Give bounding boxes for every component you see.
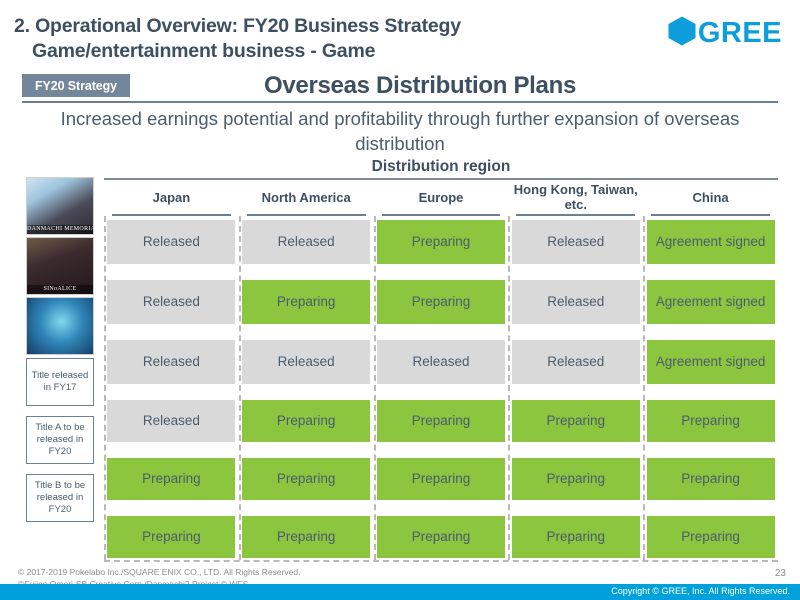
page-number: 23 xyxy=(775,568,786,579)
status-badge: Agreement signed xyxy=(647,280,775,324)
table-cell: Released xyxy=(508,216,643,268)
status-badge: Preparing xyxy=(242,458,370,500)
column-header: Europe xyxy=(374,180,509,216)
table-column-headers: JapanNorth AmericaEuropeHong Kong, Taiwa… xyxy=(104,180,778,216)
table-cell: Preparing xyxy=(643,396,778,446)
table-cell: Preparing xyxy=(374,512,509,562)
status-badge: Preparing xyxy=(377,516,505,558)
lead-paragraph: Increased earnings potential and profita… xyxy=(60,107,740,156)
table-cell: Released xyxy=(104,276,239,328)
status-badge: Preparing xyxy=(512,516,640,558)
row-label-box: Title A to be released in FY20 xyxy=(26,416,94,464)
thumbnail-caption: SINoALICE xyxy=(27,285,93,294)
row-label-box: Title B to be released in FY20 xyxy=(26,474,94,522)
table-cell: Released xyxy=(239,216,374,268)
table-cell: Preparing xyxy=(374,216,509,268)
table-cell: Preparing xyxy=(104,512,239,562)
strategy-tag: FY20 Strategy xyxy=(22,74,130,97)
table-cell: Preparing xyxy=(239,454,374,504)
table-cell: Preparing xyxy=(239,276,374,328)
status-badge: Released xyxy=(512,280,640,324)
status-badge: Released xyxy=(377,340,505,384)
table-cell: Released xyxy=(104,216,239,268)
section-title: Overseas Distribution Plans xyxy=(140,72,700,100)
table-cell: Agreement signed xyxy=(643,276,778,328)
table-row-labels: DANMACHI MEMORIA FREESESINoALICETitle re… xyxy=(26,180,100,526)
bottom-bar: Copyright © GREE, Inc. All Rights Reserv… xyxy=(0,584,800,600)
table-cell: Preparing xyxy=(104,454,239,504)
column-separator xyxy=(374,216,376,560)
table-cell: Released xyxy=(104,336,239,388)
table-row: ReleasedPreparingPreparingReleasedAgreem… xyxy=(104,276,778,328)
table-cell: Preparing xyxy=(643,454,778,504)
status-badge: Released xyxy=(242,340,370,384)
gree-logo: GREE xyxy=(668,16,782,51)
status-badge: Released xyxy=(512,220,640,264)
column-header: China xyxy=(643,180,778,216)
status-badge: Preparing xyxy=(512,400,640,442)
status-badge: Agreement signed xyxy=(647,220,775,264)
table-cell: Preparing xyxy=(239,396,374,446)
thumbnail-caption: DANMACHI MEMORIA FREESE xyxy=(27,225,93,234)
column-separator xyxy=(104,216,106,560)
column-header: Hong Kong, Taiwan, etc. xyxy=(508,180,643,216)
status-badge: Released xyxy=(512,340,640,384)
table-row: ReleasedReleasedReleasedReleasedAgreemen… xyxy=(104,336,778,388)
status-badge: Released xyxy=(107,220,235,264)
game-thumbnail: SINoALICE xyxy=(26,237,94,295)
table-cell: Preparing xyxy=(239,512,374,562)
column-header: Japan xyxy=(104,180,239,216)
column-separator xyxy=(643,216,645,560)
thumbnail-artwork xyxy=(27,298,93,354)
slide-root: 2. Operational Overview: FY20 Business S… xyxy=(0,0,800,600)
table-cell: Released xyxy=(374,336,509,388)
game-thumbnail: DANMACHI MEMORIA FREESE xyxy=(26,177,94,235)
status-badge: Preparing xyxy=(647,458,775,500)
hexagon-icon xyxy=(668,16,696,51)
status-badge: Preparing xyxy=(647,516,775,558)
table-cell: Preparing xyxy=(374,396,509,446)
table-grid: ReleasedReleasedPreparingReleasedAgreeme… xyxy=(104,216,778,562)
page-title-line1: 2. Operational Overview: FY20 Business S… xyxy=(14,15,461,37)
status-badge: Preparing xyxy=(377,280,505,324)
status-badge: Preparing xyxy=(512,458,640,500)
status-badge: Released xyxy=(107,280,235,324)
table-cell: Released xyxy=(239,336,374,388)
status-badge: Preparing xyxy=(107,516,235,558)
table-cell: Preparing xyxy=(508,396,643,446)
status-badge: Preparing xyxy=(242,280,370,324)
distribution-table: JapanNorth AmericaEuropeHong Kong, Taiwa… xyxy=(104,180,778,562)
page-title-line2: Game/entertainment business - Game xyxy=(14,39,634,64)
table-row: PreparingPreparingPreparingPreparingPrep… xyxy=(104,454,778,504)
copyright-line-1: © 2017-2019 Pokelabo Inc./SQUARE ENIX CO… xyxy=(18,566,300,578)
title-divider xyxy=(22,101,778,103)
table-cell: Released xyxy=(508,336,643,388)
status-badge: Preparing xyxy=(242,516,370,558)
status-badge: Preparing xyxy=(377,220,505,264)
table-cell: Preparing xyxy=(374,276,509,328)
column-header: North America xyxy=(239,180,374,216)
status-badge: Preparing xyxy=(377,400,505,442)
status-badge: Released xyxy=(242,220,370,264)
gree-wordmark: GREE xyxy=(698,19,782,48)
status-badge: Preparing xyxy=(647,400,775,442)
table-cell: Preparing xyxy=(508,454,643,504)
column-separator xyxy=(508,216,510,560)
table-cell: Released xyxy=(104,396,239,446)
table-cell: Agreement signed xyxy=(643,336,778,388)
table-row: ReleasedPreparingPreparingPreparingPrepa… xyxy=(104,396,778,446)
status-badge: Released xyxy=(107,400,235,442)
status-badge: Preparing xyxy=(107,458,235,500)
table-group-header: Distribution region xyxy=(104,158,778,176)
bottom-bar-text: Copyright © GREE, Inc. All Rights Reserv… xyxy=(611,586,790,596)
page-title: 2. Operational Overview: FY20 Business S… xyxy=(14,14,634,64)
table-cell: Preparing xyxy=(374,454,509,504)
game-thumbnail xyxy=(26,297,94,355)
column-separator xyxy=(239,216,241,560)
status-badge: Released xyxy=(107,340,235,384)
table-cell: Released xyxy=(508,276,643,328)
table-cell: Preparing xyxy=(643,512,778,562)
table-row: ReleasedReleasedPreparingReleasedAgreeme… xyxy=(104,216,778,268)
table-row: PreparingPreparingPreparingPreparingPrep… xyxy=(104,512,778,562)
status-badge: Preparing xyxy=(242,400,370,442)
table-cell: Preparing xyxy=(508,512,643,562)
table-cell: Agreement signed xyxy=(643,216,778,268)
status-badge: Preparing xyxy=(377,458,505,500)
row-label-box: Title released in FY17 xyxy=(26,358,94,406)
status-badge: Agreement signed xyxy=(647,340,775,384)
